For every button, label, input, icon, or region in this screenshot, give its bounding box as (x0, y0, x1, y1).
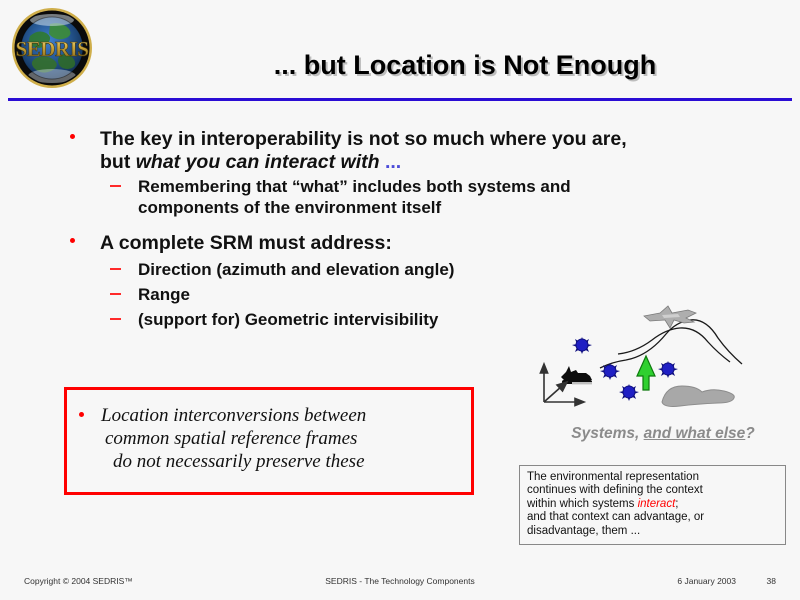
sub-bullet-2-2-label: Range (138, 285, 190, 304)
illustration-caption: Systems, and what else? (530, 425, 796, 443)
sedris-logo-icon: SEDRIS (6, 6, 98, 90)
bullet-2-heading: A complete SRM must address: (100, 232, 392, 254)
note-line-2: continues with defining the context (527, 484, 779, 497)
sedris-logo: SEDRIS (6, 6, 98, 90)
bullet-1-line2-pre: but (100, 151, 136, 173)
jet-aircraft-icon (644, 306, 696, 328)
green-arrow-icon (637, 356, 655, 390)
svg-text:SEDRIS: SEDRIS (16, 37, 89, 61)
footer-date: 6 January 2003 (677, 576, 736, 586)
note-line-1: The environmental representation (527, 471, 779, 484)
sub-bullet-2-3-label: (support for) Geometric intervisibility (138, 310, 438, 329)
slide-canvas: SEDRIS ... but Location is Not Enough Th… (0, 0, 800, 600)
callout-text: Location interconversions between common… (67, 390, 471, 473)
caption-underlined: and what else (644, 425, 746, 442)
scene-illustration (536, 298, 786, 418)
dash-icon (110, 268, 121, 270)
dash-icon (110, 185, 121, 187)
sub-bullet-2-1-label: Direction (azimuth and elevation angle) (138, 260, 454, 279)
bullet-group-1: The key in interoperability is not so mu… (64, 128, 724, 218)
title-divider (8, 98, 792, 101)
terrain-ridge-icon (600, 320, 742, 368)
bullet-dot-icon (79, 412, 84, 417)
gray-blob-icon (662, 386, 734, 407)
sub-bullet-1-1-line1: Remembering that “what” includes both sy… (138, 177, 571, 196)
note-box: The environmental representation continu… (519, 465, 786, 545)
sub-bullet-1-1-line2: components of the environment itself (138, 198, 441, 217)
note-line-3-pre: within which systems (527, 498, 638, 510)
note-line-3: within which systems interact; (527, 498, 779, 511)
blue-marker-dot-icon (572, 337, 678, 401)
bullet-2: A complete SRM must address: (64, 232, 724, 255)
bullet-dot-icon (70, 134, 75, 139)
caption-pre: Systems, (571, 425, 643, 442)
bullet-1: The key in interoperability is not so mu… (64, 128, 724, 174)
note-line-5: disadvantage, them ... (527, 525, 779, 538)
dash-icon (110, 318, 121, 320)
sub-bullet-1-1: Remembering that “what” includes both sy… (64, 176, 724, 218)
callout-box: Location interconversions between common… (64, 387, 474, 495)
callout-line-3: do not necessarily preserve these (101, 450, 463, 473)
dash-icon (110, 293, 121, 295)
footer-page-number: 38 (767, 576, 776, 586)
caption-post: ? (745, 425, 754, 442)
slide-footer: Copyright © 2004 SEDRIS™ SEDRIS - The Te… (0, 564, 800, 600)
sub-bullet-2-1: Direction (azimuth and elevation angle) (64, 259, 724, 280)
callout-line-1: Location interconversions between (101, 404, 463, 427)
bullet-1-line1: The key in interoperability is not so mu… (100, 128, 627, 150)
note-line-4: and that context can advantage, or (527, 511, 779, 524)
bullet-dot-icon (70, 238, 75, 243)
bullet-1-ellipsis: ... (380, 151, 402, 173)
callout-line-2: common spatial reference frames (101, 427, 463, 450)
slide-title: ... but Location is Not Enough (150, 50, 780, 81)
note-line-3-tail: ; (675, 498, 678, 510)
note-emphasis: interact (638, 498, 676, 510)
coordinate-axes-icon (540, 364, 584, 406)
bullet-1-line2-italic: what you can interact with (136, 151, 380, 173)
